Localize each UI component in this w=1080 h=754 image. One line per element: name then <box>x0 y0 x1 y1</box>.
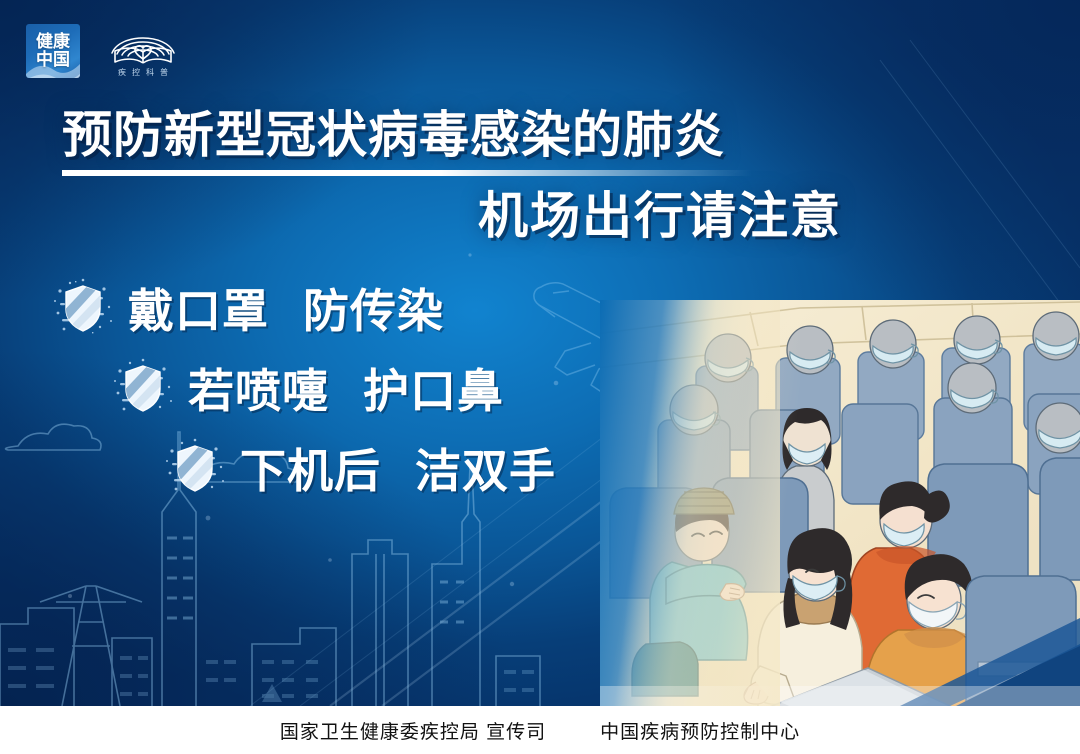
page-title: 预防新型冠状病毒感染的肺炎 <box>62 106 725 164</box>
tip-text-wear-mask: 戴口罩防传染 <box>128 275 444 341</box>
shield-icon-graphic <box>112 357 174 419</box>
healthy-china-logo-line2: 中国 <box>36 51 70 69</box>
shield-icon <box>164 437 226 499</box>
tip-left-wear-mask: 戴口罩 <box>128 285 269 337</box>
logo-group: 健康 中国 疾控科普 <box>26 24 182 78</box>
shield-icon <box>52 277 114 339</box>
healthy-china-logo-line1: 健康 <box>36 33 70 51</box>
tip-text-wash-hands: 下机后洁双手 <box>240 435 556 501</box>
poster-root: 健康 中国 疾控科普 预防新型冠状病 <box>0 0 1080 754</box>
tip-right-wash-hands: 洁双手 <box>415 445 556 497</box>
cdc-popsci-logo: 疾控科普 <box>104 25 182 78</box>
shield-icon-graphic <box>52 277 114 339</box>
footer-org-nhc: 国家卫生健康委疾控局 宣传司 <box>280 717 546 744</box>
title-underline <box>62 170 752 176</box>
airplane-cabin-illustration <box>600 300 1080 706</box>
tips-list: 戴口罩防传染 <box>0 268 700 508</box>
healthy-china-logo-text: 健康 中国 <box>26 24 80 78</box>
shield-icon <box>112 357 174 419</box>
tip-right-wear-mask: 防传染 <box>303 285 444 337</box>
footer-org-cdc: 中国疾病预防控制中心 <box>600 717 800 744</box>
tip-text-cover-sneeze: 若喷嚏护口鼻 <box>188 355 504 421</box>
footer-bar: 国家卫生健康委疾控局 宣传司 中国疾病预防控制中心 <box>0 706 1080 754</box>
tip-left-cover-sneeze: 若喷嚏 <box>188 365 329 417</box>
open-book-rainbow-heart-icon <box>104 25 182 65</box>
shield-icon-graphic <box>164 437 226 499</box>
tip-left-wash-hands: 下机后 <box>240 445 381 497</box>
healthy-china-logo: 健康 中国 <box>26 24 80 78</box>
cabin-scene-graphic <box>600 300 1080 706</box>
page-subtitle: 机场出行请注意 <box>478 186 842 246</box>
cdc-popsci-logo-label: 疾控科普 <box>112 67 174 78</box>
tip-right-cover-sneeze: 护口鼻 <box>363 365 504 417</box>
